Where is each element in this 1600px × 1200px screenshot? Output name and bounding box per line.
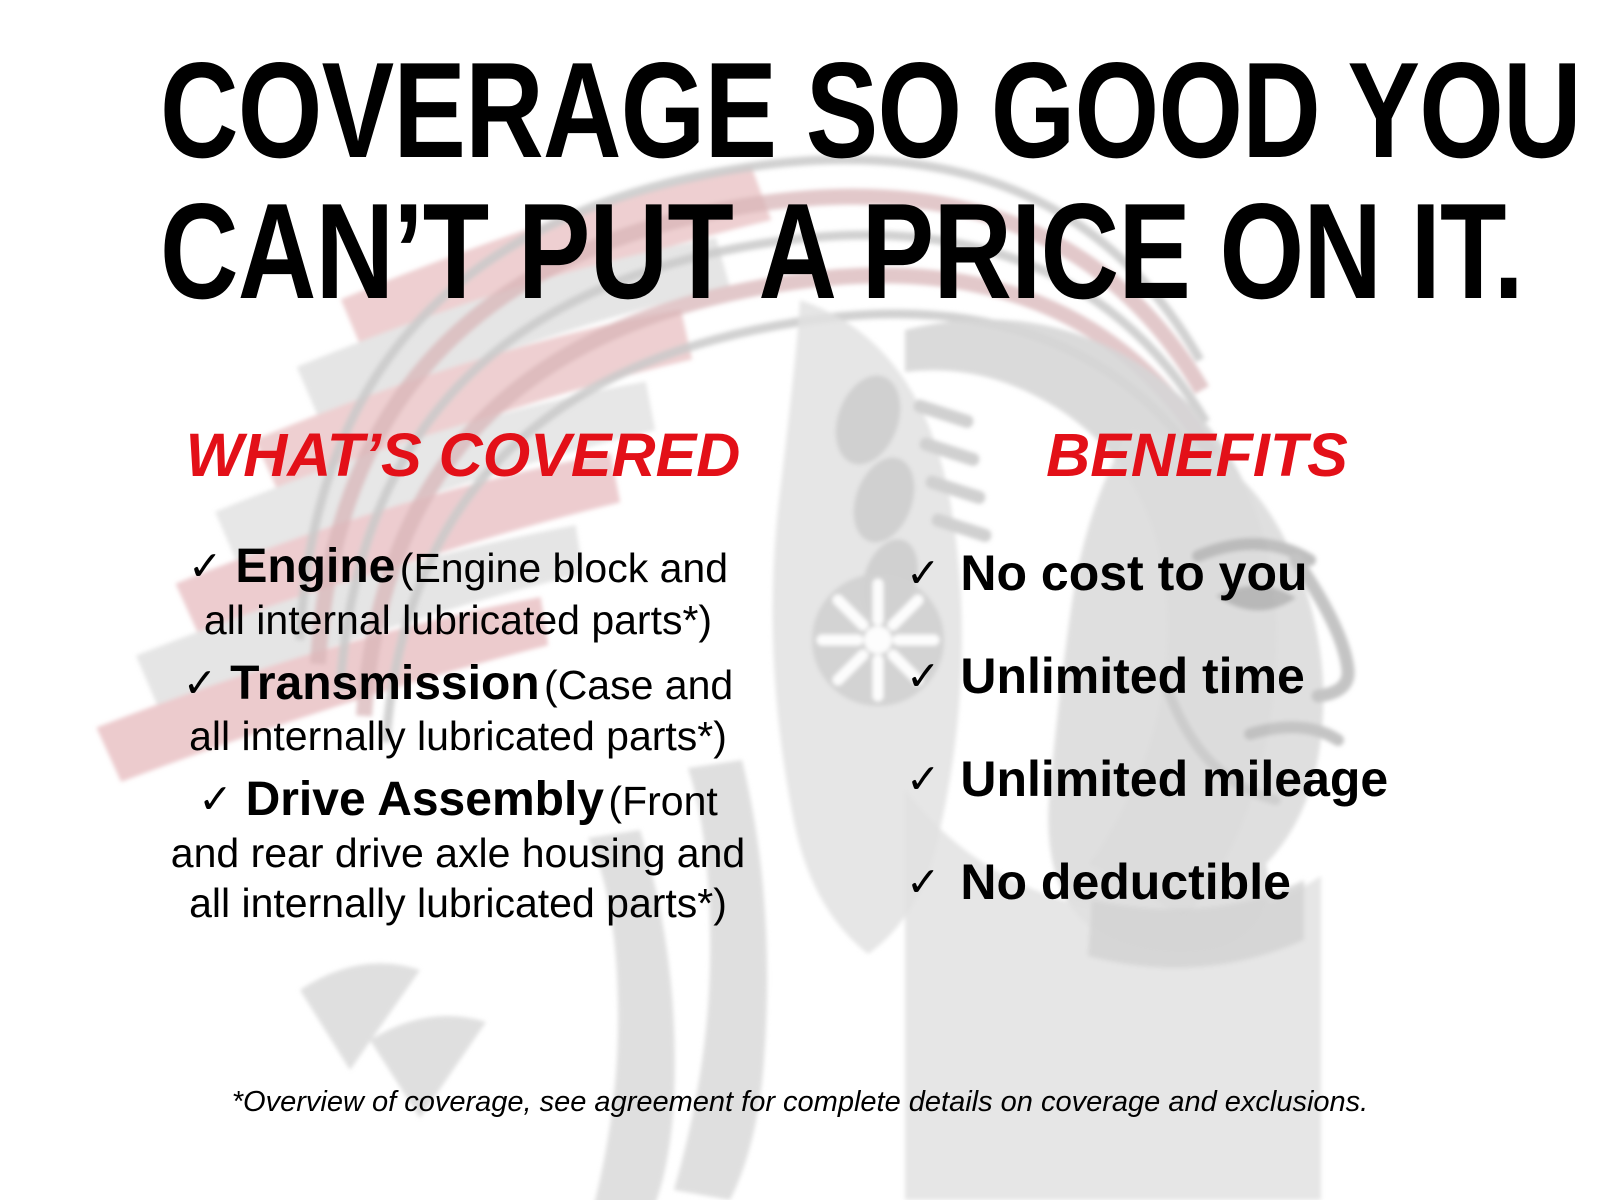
coverage-detail: (Case and	[544, 662, 733, 708]
benefit-label: No cost to you	[960, 545, 1307, 601]
benefit-label: Unlimited mileage	[960, 751, 1388, 807]
coverage-label: Transmission	[230, 657, 539, 710]
coverage-label: Drive Assembly	[246, 773, 604, 826]
benefit-label: No deductible	[960, 854, 1291, 910]
whats-covered-list: ✓Engine (Engine block and all internal l…	[98, 540, 818, 928]
list-item: ✓No deductible	[880, 853, 1540, 911]
headline-line-1: COVERAGE SO GOOD YOU	[160, 44, 1440, 177]
coverage-detail-cont: all internal lubricated parts*)	[98, 595, 818, 645]
coverage-detail-cont: and rear drive axle housing and	[98, 828, 818, 878]
coverage-detail: (Front	[608, 778, 717, 824]
list-item: ✓No cost to you	[880, 544, 1540, 602]
list-item: ✓Unlimited mileage	[880, 750, 1540, 808]
coverage-detail-cont-2: all internally lubricated parts*)	[98, 878, 818, 928]
list-item: ✓Unlimited time	[880, 647, 1540, 705]
checkmark-icon: ✓	[188, 543, 222, 589]
headline-line-2: CAN’T PUT A PRICE ON IT.	[160, 185, 1440, 318]
coverage-label: Engine	[235, 540, 395, 593]
checkmark-icon: ✓	[198, 776, 232, 822]
whats-covered-title: WHAT’S COVERED	[98, 425, 818, 486]
checkmark-icon: ✓	[906, 550, 940, 596]
checkmark-icon: ✓	[906, 653, 940, 699]
coverage-poster: COVERAGE SO GOOD YOU CAN’T PUT A PRICE O…	[0, 0, 1600, 1200]
list-item: ✓Drive Assembly (Front and rear drive ax…	[98, 773, 818, 928]
whats-covered-column: WHAT’S COVERED ✓Engine (Engine block and…	[98, 425, 818, 940]
checkmark-icon: ✓	[906, 859, 940, 905]
disclaimer-text: *Overview of coverage, see agreement for…	[0, 1086, 1600, 1119]
benefits-title: BENEFITS	[880, 425, 1540, 486]
checkmark-icon: ✓	[906, 756, 940, 802]
content-columns: WHAT’S COVERED ✓Engine (Engine block and…	[0, 425, 1600, 1045]
checkmark-icon: ✓	[183, 660, 217, 706]
coverage-detail-cont: all internally lubricated parts*)	[98, 711, 818, 761]
benefit-label: Unlimited time	[960, 648, 1304, 704]
list-item: ✓Engine (Engine block and all internal l…	[98, 540, 818, 645]
headline: COVERAGE SO GOOD YOU CAN’T PUT A PRICE O…	[0, 44, 1600, 319]
benefits-list: ✓No cost to you ✓Unlimited time ✓Unlimit…	[880, 544, 1540, 911]
benefits-column: BENEFITS ✓No cost to you ✓Unlimited time…	[880, 425, 1540, 956]
coverage-detail: (Engine block and	[400, 545, 728, 591]
list-item: ✓Transmission (Case and all internally l…	[98, 657, 818, 762]
